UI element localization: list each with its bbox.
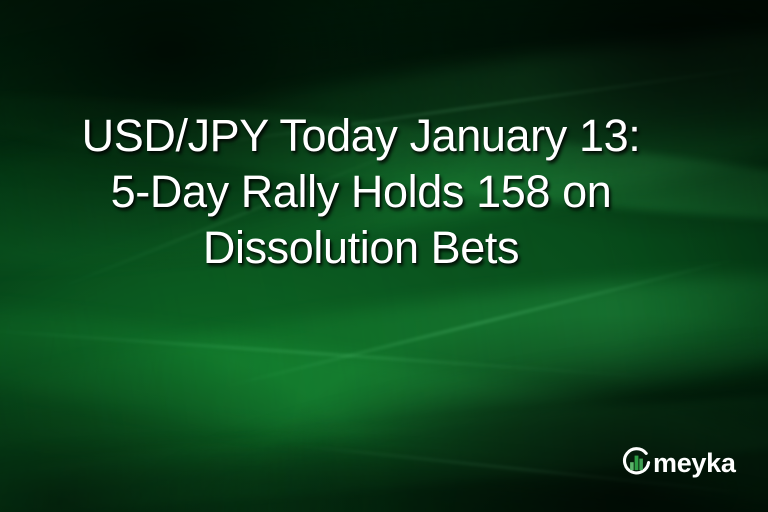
meyka-logo[interactable]: meyka [620, 446, 739, 479]
wave-filament-2 [218, 257, 742, 390]
logo-wordmark: meyka [653, 450, 736, 477]
wave-streak-6 [0, 370, 768, 512]
wave-shadow-band-1 [102, 312, 768, 512]
headline-line-1: USD/JPY Today January 13: [14, 108, 708, 164]
wave-filament-3 [0, 328, 659, 379]
article-banner-card: USD/JPY Today January 13: 5-Day Rally Ho… [0, 0, 768, 512]
headline-line-3: Dissolution Bets [14, 220, 708, 276]
headline: USD/JPY Today January 13: 5-Day Rally Ho… [0, 108, 768, 276]
wave-streak-7 [0, 377, 768, 512]
headline-line-2: 5-Day Rally Holds 158 on [14, 164, 708, 220]
circle-bar-chart-icon [620, 446, 653, 479]
